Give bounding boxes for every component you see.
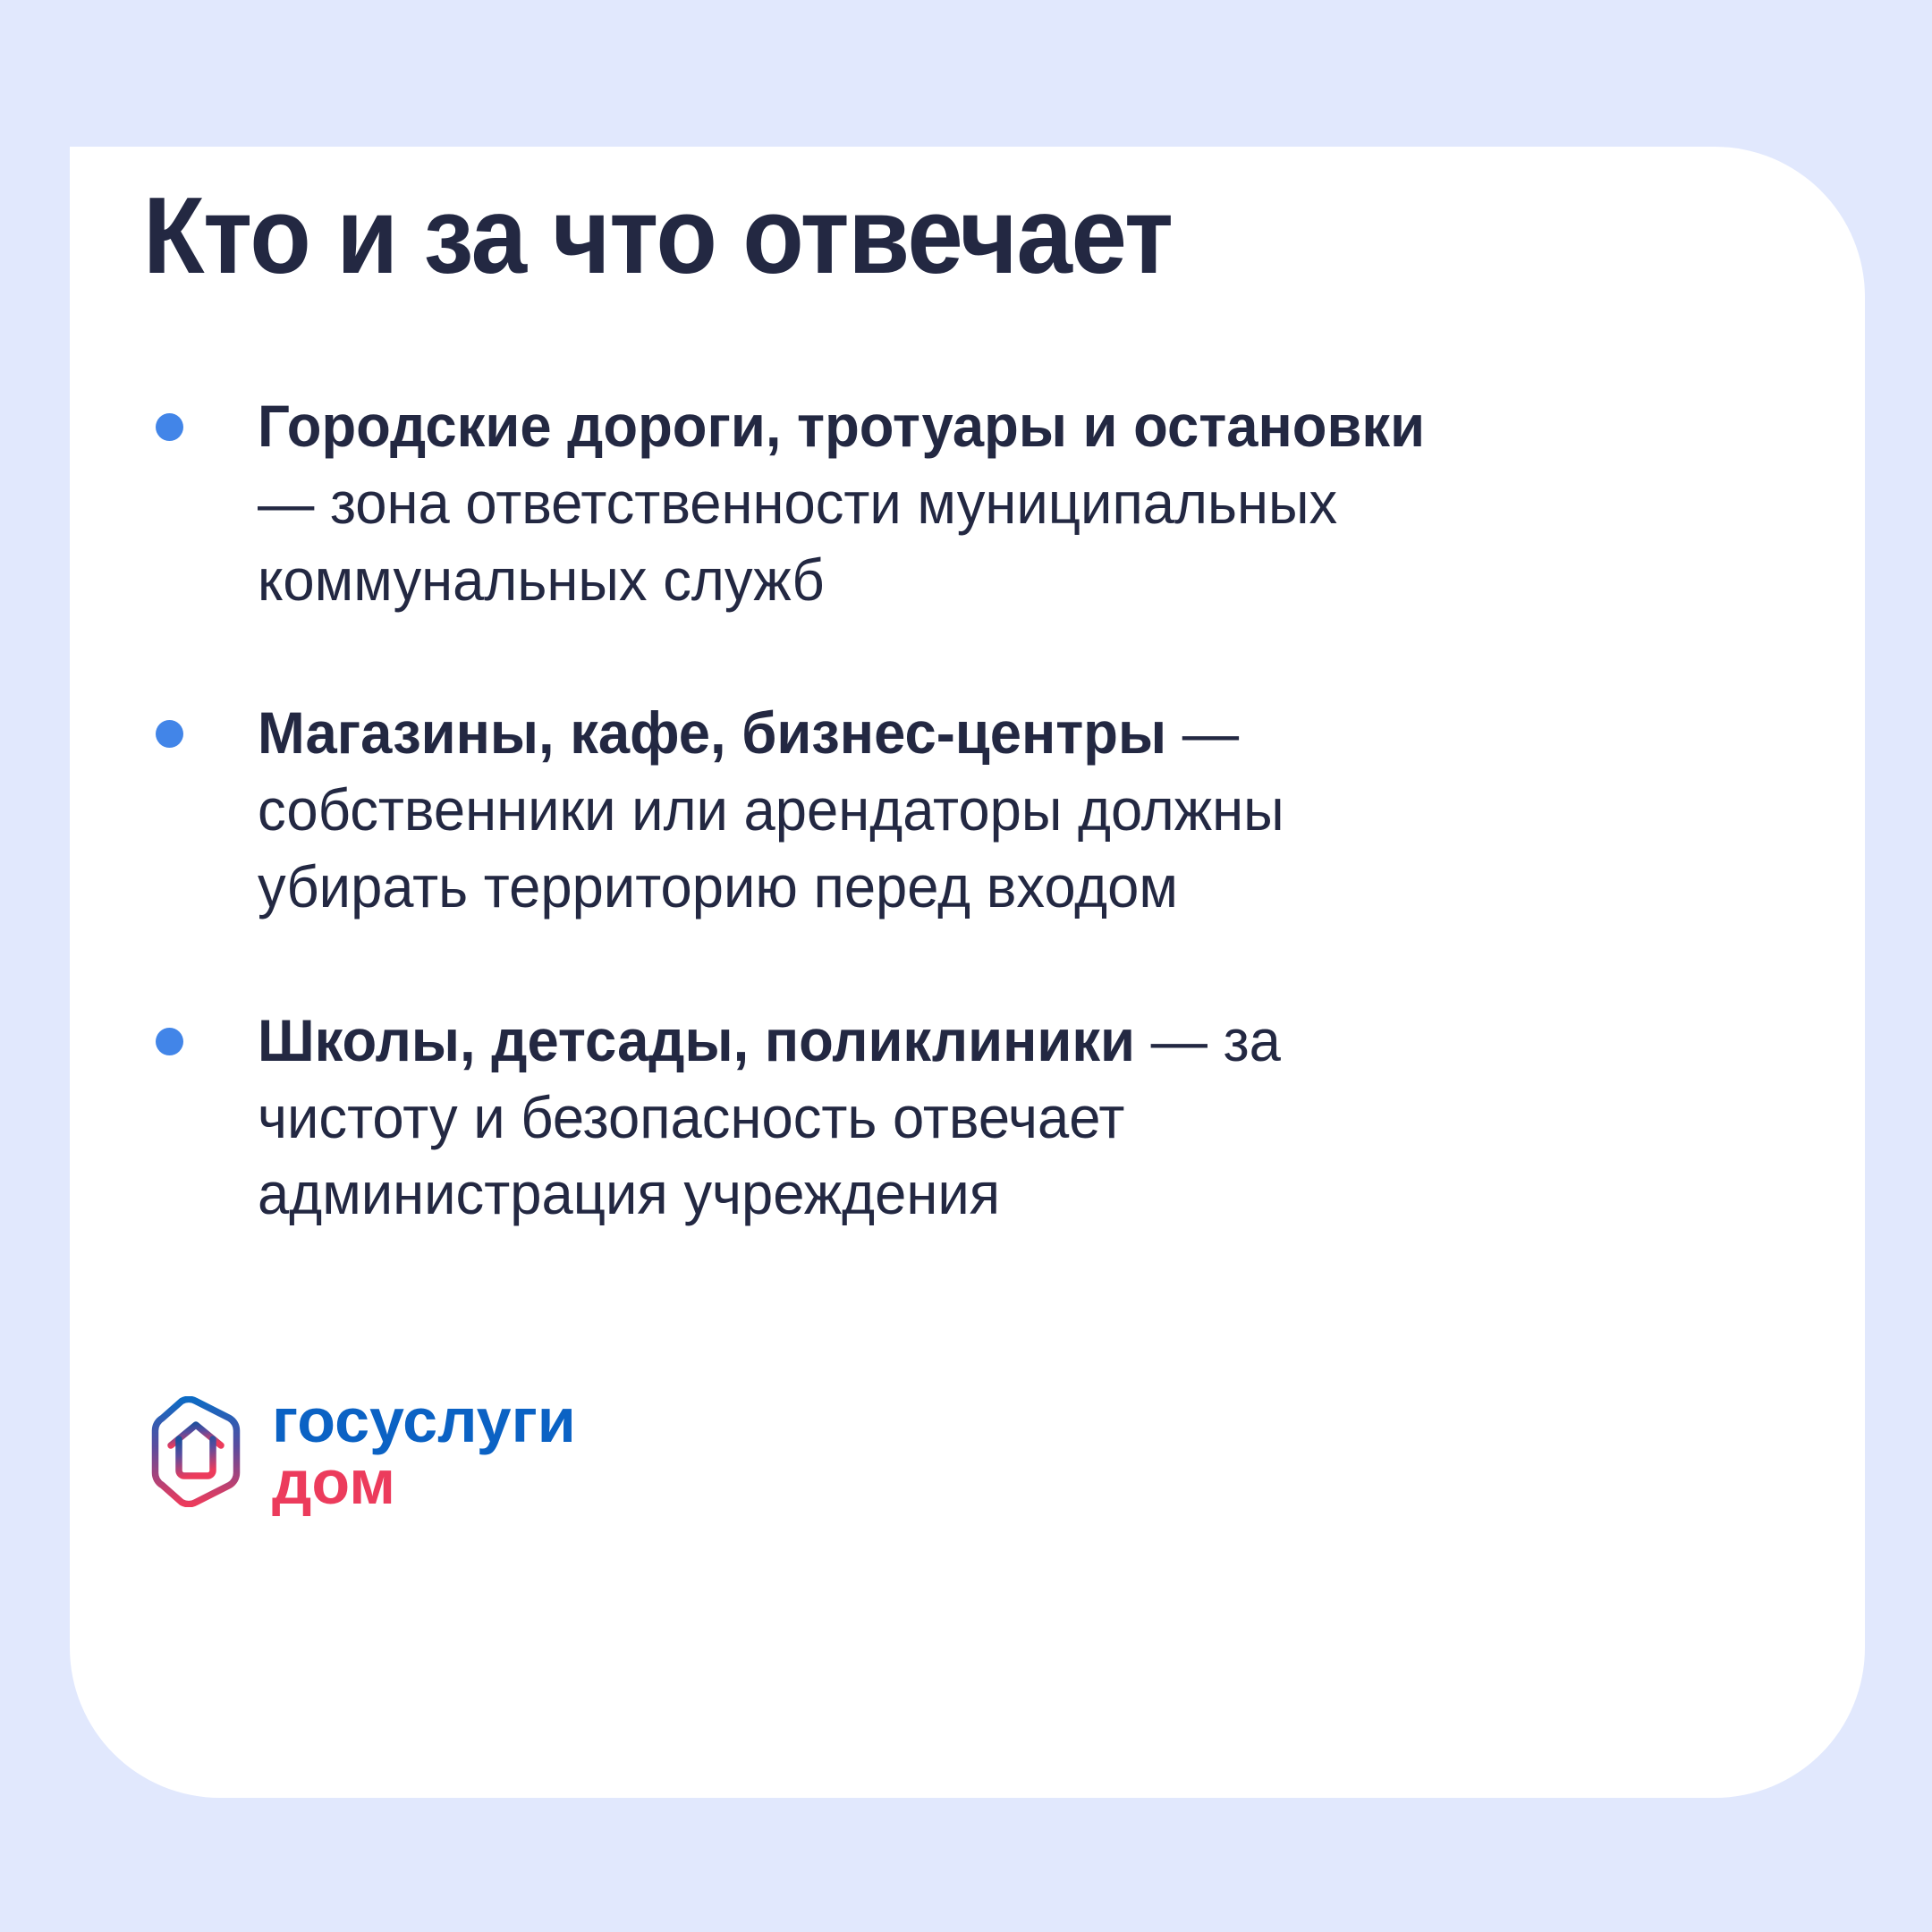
logo-line-dom: дом xyxy=(272,1452,576,1513)
bullet-dot-icon xyxy=(156,720,183,748)
bullet-text: Магазины, кафе, бизнес-центры — собствен… xyxy=(258,695,1453,925)
logo-line-gosuslugi: госуслуги xyxy=(272,1390,576,1452)
list-item: Магазины, кафе, бизнес-центры — собствен… xyxy=(143,695,1503,925)
bullet-dot-icon xyxy=(156,413,183,441)
hexagon-house-icon xyxy=(143,1396,249,1507)
bullet-lead-text: Магазины, кафе, бизнес-центры xyxy=(258,699,1166,766)
page-title: Кто и за что отвечает xyxy=(143,181,1173,290)
list-item: Школы, детсады, поликлиники — за чистоту… xyxy=(143,1003,1503,1233)
list-item: Городские дороги, тротуары и остановки —… xyxy=(143,388,1503,618)
gosuslugi-dom-logo: госуслуги дом xyxy=(143,1390,576,1513)
bullet-rest-text: — зона ответственности муниципальных ком… xyxy=(258,470,1337,613)
responsibility-bullet-list: Городские дороги, тротуары и остановки —… xyxy=(143,388,1503,1233)
content-card: Кто и за что отвечает Городские дороги, … xyxy=(70,147,1865,1798)
bullet-dot-icon xyxy=(156,1028,183,1055)
logo-wordmark: госуслуги дом xyxy=(272,1390,576,1513)
bullet-text: Школы, детсады, поликлиники — за чистоту… xyxy=(258,1003,1453,1233)
bullet-lead-text: Школы, детсады, поликлиники xyxy=(258,1007,1135,1073)
slide-canvas: Кто и за что отвечает Городские дороги, … xyxy=(0,0,1932,1932)
bullet-text: Городские дороги, тротуары и остановки —… xyxy=(258,388,1453,618)
bullet-lead-text: Городские дороги, тротуары и остановки xyxy=(258,393,1425,459)
